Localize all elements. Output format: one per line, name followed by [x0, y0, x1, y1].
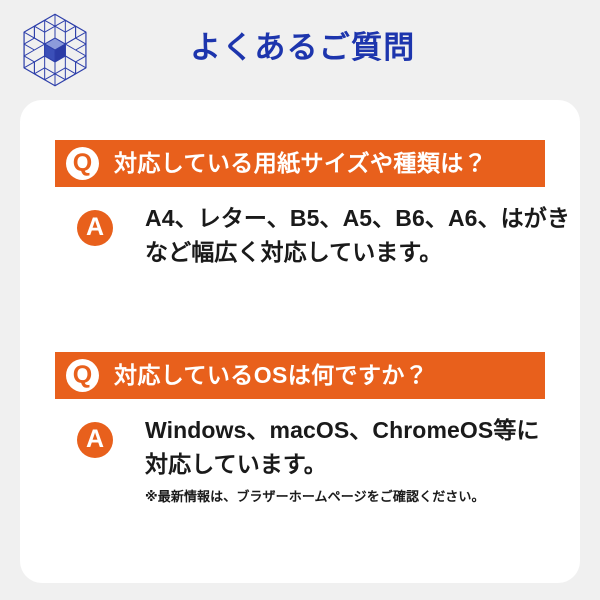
question-badge-letter: Q	[73, 363, 92, 388]
answer-body: Windows、macOS、ChromeOS等に 対応しています。 ※最新情報は…	[145, 409, 555, 506]
answer-line: Windows、macOS、ChromeOS等に	[145, 413, 555, 447]
page-title: よくあるご質問	[190, 26, 415, 70]
question-badge-letter: Q	[73, 151, 92, 176]
answer-line: 対応しています。	[145, 447, 555, 481]
answer-line: など幅広く対応しています。	[145, 235, 555, 269]
answer-row: A A4、レター、B5、A5、B6、A6、はがき など幅広く対応しています。	[55, 197, 555, 269]
question-text: 対応している用紙サイズや種類は？	[114, 150, 487, 178]
page-header: よくあるご質問	[0, 0, 600, 100]
question-badge-icon: Q	[66, 147, 99, 180]
answer-badge-icon: A	[77, 210, 113, 246]
question-badge-icon: Q	[66, 359, 99, 392]
answer-badge-letter: A	[86, 215, 104, 240]
answer-badge-icon: A	[77, 422, 113, 458]
question-bar[interactable]: Q 対応しているOSは何ですか？	[55, 352, 545, 399]
answer-badge-letter: A	[86, 427, 104, 452]
question-text: 対応しているOSは何ですか？	[114, 362, 428, 390]
question-bar[interactable]: Q 対応している用紙サイズや種類は？	[55, 140, 545, 187]
isometric-cube-hexagon-logo	[17, 12, 93, 88]
answer-line: A4、レター、B5、A5、B6、A6、はがき	[145, 201, 555, 235]
answer-row: A Windows、macOS、ChromeOS等に 対応しています。 ※最新情…	[55, 409, 555, 506]
answer-note: ※最新情報は、ブラザーホームページをご確認ください。	[145, 488, 555, 506]
faq-card: Q 対応している用紙サイズや種類は？ A A4、レター、B5、A5、B6、A6、…	[20, 100, 580, 583]
answer-body: A4、レター、B5、A5、B6、A6、はがき など幅広く対応しています。	[145, 197, 555, 269]
